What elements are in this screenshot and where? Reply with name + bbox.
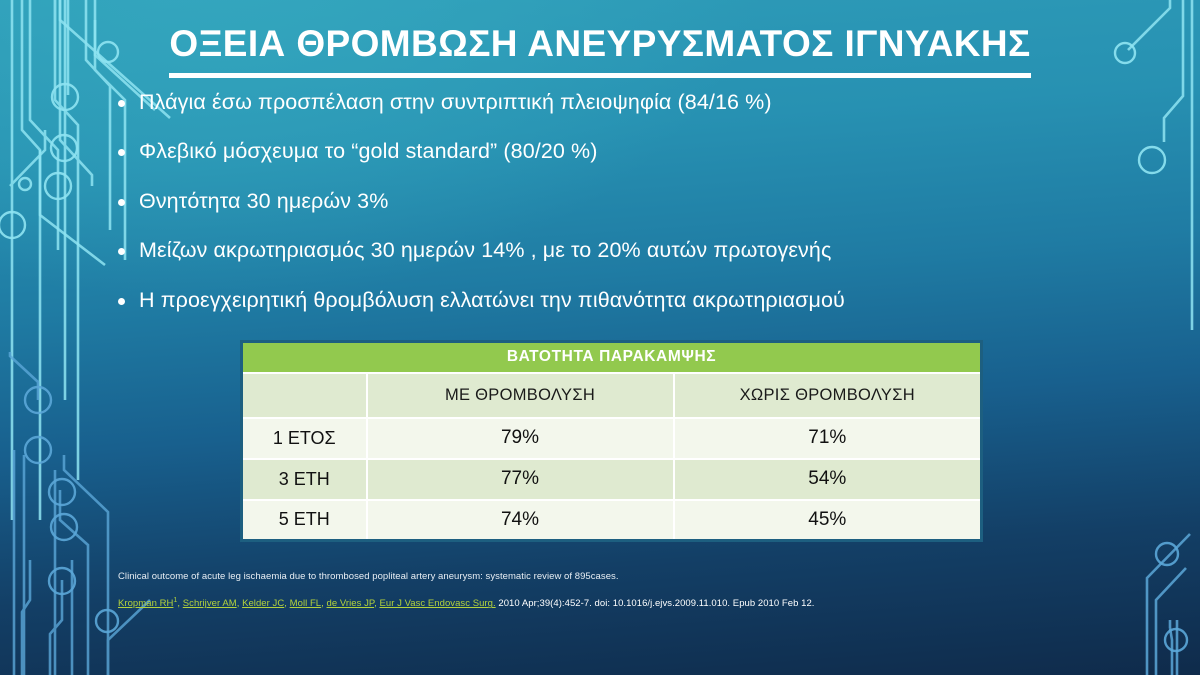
cell-without-thrombolysis: 54% [674, 459, 982, 500]
author-affiliation-superscript: 1 [173, 597, 177, 604]
column-header-without-thrombolysis: ΧΩΡΙΣ ΘΡΟΜΒΟΛΥΣΗ [674, 373, 982, 418]
bullet-text: Η προεγχειρητική θρομβόλυση ελλατώνει τη… [139, 286, 845, 314]
citation-reference: Kropman RH1, Schrijver AM, Kelder JC, Mo… [118, 596, 1018, 611]
cell-without-thrombolysis: 71% [674, 418, 982, 459]
table-header-row: ΜΕ ΘΡΟΜΒΟΛΥΣΗ ΧΩΡΙΣ ΘΡΟΜΒΟΛΥΣΗ [242, 373, 982, 418]
list-item: Θνητότητα 30 ημερών 3% [118, 187, 1128, 215]
journal-name[interactable]: Eur J Vasc Endovasc Surg. [379, 598, 495, 609]
column-header-with-thrombolysis: ΜΕ ΘΡΟΜΒΟΛΥΣΗ [367, 373, 674, 418]
author-name[interactable]: Moll FL [290, 598, 322, 609]
table-row: 5 ΕΤΗ 74% 45% [242, 500, 982, 541]
bullet-dot-icon [118, 100, 125, 107]
slide-title-text: ΟΞΕΙΑ ΘΡΟΜΒΩΣΗ ΑΝΕΥΡΥΣΜΑΤΟΣ ΙΓΝΥΑΚΗΣ [169, 24, 1030, 78]
author-name[interactable]: Kelder JC [242, 598, 284, 609]
bullet-text: Πλάγια έσω προσπέλαση στην συντριπτική π… [139, 88, 772, 116]
cell-without-thrombolysis: 45% [674, 500, 982, 541]
author-name[interactable]: Kropman RH [118, 598, 173, 609]
list-item: Πλάγια έσω προσπέλαση στην συντριπτική π… [118, 88, 1128, 116]
bullet-dot-icon [118, 248, 125, 255]
cell-with-thrombolysis: 79% [367, 418, 674, 459]
row-label: 3 ΕΤΗ [242, 459, 367, 500]
row-label: 5 ΕΤΗ [242, 500, 367, 541]
citation-authors[interactable]: Kropman RH1, Schrijver AM, Kelder JC, Mo… [118, 598, 496, 609]
bullet-text: Μείζων ακρωτηριασμός 30 ημερών 14% , με … [139, 236, 831, 264]
bullet-dot-icon [118, 149, 125, 156]
author-name[interactable]: de Vries JP [327, 598, 375, 609]
table-row: 1 ΕΤΟΣ 79% 71% [242, 418, 982, 459]
list-item: Μείζων ακρωτηριασμός 30 ημερών 14% , με … [118, 236, 1128, 264]
table-title-row: ΒΑΤΟΤΗΤΑ ΠΑΡΑΚΑΜΨΗΣ [242, 342, 982, 373]
author-name[interactable]: Schrijver AM [183, 598, 237, 609]
bullet-text: Θνητότητα 30 ημερών 3% [139, 187, 388, 215]
cell-with-thrombolysis: 74% [367, 500, 674, 541]
table-title: ΒΑΤΟΤΗΤΑ ΠΑΡΑΚΑΜΨΗΣ [242, 342, 982, 373]
citation-title: Clinical outcome of acute leg ischaemia … [118, 570, 1018, 584]
bullet-dot-icon [118, 298, 125, 305]
table-corner-cell [242, 373, 367, 418]
patency-results-table: ΒΑΤΟΤΗΤΑ ΠΑΡΑΚΑΜΨΗΣ ΜΕ ΘΡΟΜΒΟΛΥΣΗ ΧΩΡΙΣ … [240, 340, 983, 542]
list-item: Φλεβικό μόσχευμα το “gold standard” (80/… [118, 137, 1128, 165]
results-table-container: ΒΑΤΟΤΗΤΑ ΠΑΡΑΚΑΜΨΗΣ ΜΕ ΘΡΟΜΒΟΛΥΣΗ ΧΩΡΙΣ … [240, 340, 980, 542]
bullet-list: Πλάγια έσω προσπέλαση στην συντριπτική π… [118, 88, 1128, 335]
cell-with-thrombolysis: 77% [367, 459, 674, 500]
row-label: 1 ΕΤΟΣ [242, 418, 367, 459]
list-item: Η προεγχειρητική θρομβόλυση ελλατώνει τη… [118, 286, 1128, 314]
slide-canvas: ΟΞΕΙΑ ΘΡΟΜΒΩΣΗ ΑΝΕΥΡΥΣΜΑΤΟΣ ΙΓΝΥΑΚΗΣ Πλά… [0, 0, 1200, 675]
bullet-text: Φλεβικό μόσχευμα το “gold standard” (80/… [139, 137, 598, 165]
page-title: ΟΞΕΙΑ ΘΡΟΜΒΩΣΗ ΑΝΕΥΡΥΣΜΑΤΟΣ ΙΓΝΥΑΚΗΣ [0, 24, 1200, 78]
citation-tail: 2010 Apr;39(4):452-7. doi: 10.1016/j.ejv… [498, 598, 814, 609]
citation-block: Clinical outcome of acute leg ischaemia … [118, 570, 1018, 624]
table-row: 3 ΕΤΗ 77% 54% [242, 459, 982, 500]
bullet-dot-icon [118, 199, 125, 206]
